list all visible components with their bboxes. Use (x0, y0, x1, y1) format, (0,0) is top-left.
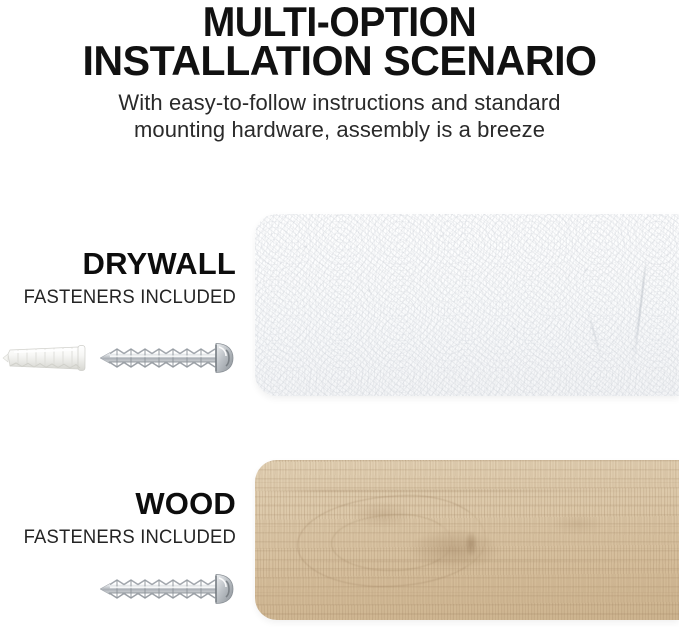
drywall-texture-swatch (255, 214, 679, 396)
drywall-fasteners-note: FASTENERS INCLUDED (7, 288, 236, 307)
wood-label-block: WOOD FASTENERS INCLUDED (0, 488, 236, 547)
page-title-line-2: INSTALLATION SCENARIO (7, 41, 672, 80)
section-drywall: DRYWALL FASTENERS INCLUDED (0, 214, 679, 396)
drywall-surface-name: DRYWALL (0, 248, 236, 279)
page-subtitle-line-1: With easy-to-follow instructions and sta… (0, 90, 679, 117)
wood-grain-streak (255, 490, 679, 492)
wood-fasteners-note: FASTENERS INCLUDED (7, 528, 236, 547)
page-title-line-1: MULTI-OPTION (24, 2, 655, 41)
page-title: MULTI-OPTION INSTALLATION SCENARIO (0, 0, 679, 81)
page-subtitle: With easy-to-follow instructions and sta… (0, 90, 679, 144)
screw-icon (100, 575, 233, 604)
drywall-hardware-group (0, 332, 245, 384)
drywall-crack-detail-secondary (586, 309, 602, 362)
header: MULTI-OPTION INSTALLATION SCENARIO With … (0, 0, 679, 144)
page-subtitle-line-2: mounting hardware, assembly is a breeze (0, 117, 679, 144)
screw-icon (100, 344, 233, 373)
wood-knot-detail (454, 521, 488, 567)
wood-grain-arc-secondary (331, 514, 452, 570)
drywall-anchor-icon (3, 346, 85, 371)
wood-hardware-group (0, 563, 245, 615)
drywall-label-block: DRYWALL FASTENERS INCLUDED (0, 248, 236, 307)
wood-grain-swatch (255, 460, 679, 620)
drywall-crack-detail (633, 258, 648, 363)
section-wood: WOOD FASTENERS INCLUDED (0, 460, 679, 620)
wood-surface-name: WOOD (0, 488, 236, 519)
